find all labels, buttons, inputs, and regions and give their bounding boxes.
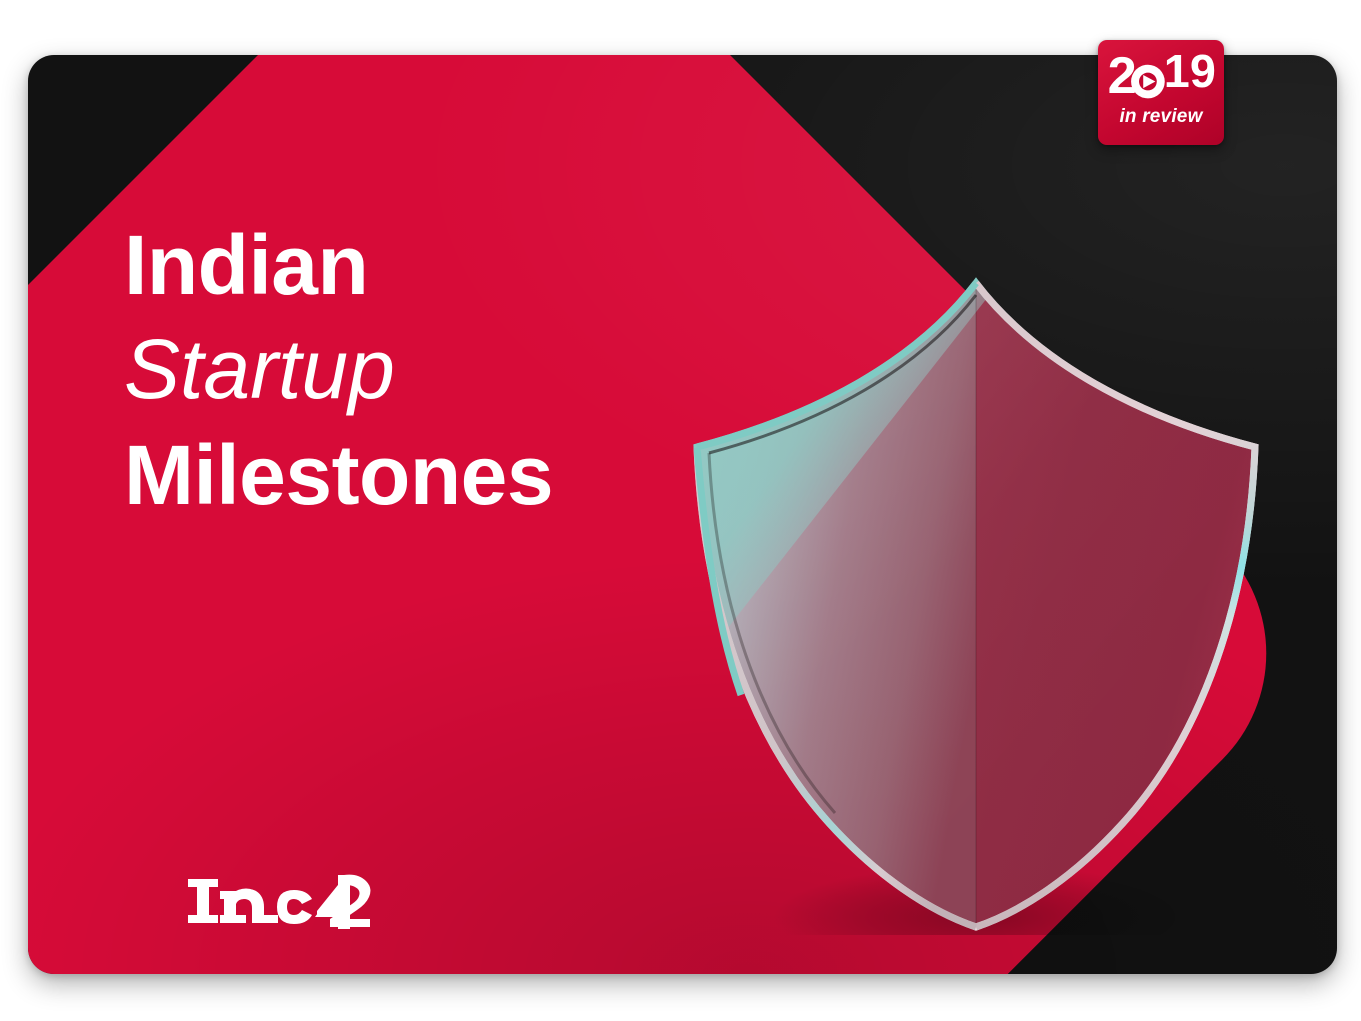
badge-year-suffix: 19 bbox=[1164, 46, 1216, 97]
year-badge[interactable]: 2 19 in review bbox=[1098, 40, 1224, 145]
inc42-logo[interactable] bbox=[186, 873, 372, 935]
title-line-indian: Indian bbox=[124, 223, 684, 307]
title-line-startup: Startup bbox=[124, 327, 684, 411]
page-title: Indian Startup Milestones bbox=[124, 223, 684, 517]
poster-canvas: Indian Startup Milestones bbox=[0, 0, 1361, 1021]
title-line-milestones: Milestones bbox=[124, 433, 684, 517]
play-circle-icon bbox=[1131, 65, 1165, 99]
logo-wordmark bbox=[188, 879, 312, 924]
shield-graphic bbox=[683, 265, 1273, 935]
badge-year-row: 2 19 bbox=[1098, 44, 1224, 106]
poster-card: Indian Startup Milestones bbox=[28, 55, 1337, 974]
badge-subtitle: in review bbox=[1098, 106, 1224, 128]
